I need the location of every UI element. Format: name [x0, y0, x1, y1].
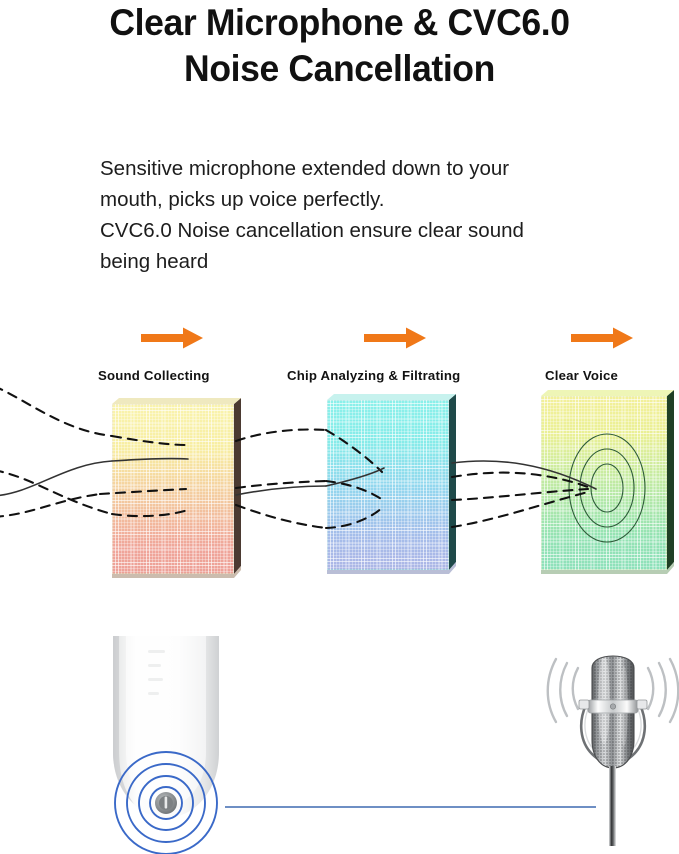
studio-microphone-icon — [0, 0, 679, 854]
infographic-canvas: Clear Microphone & CVC6.0 Noise Cancella… — [0, 0, 679, 854]
